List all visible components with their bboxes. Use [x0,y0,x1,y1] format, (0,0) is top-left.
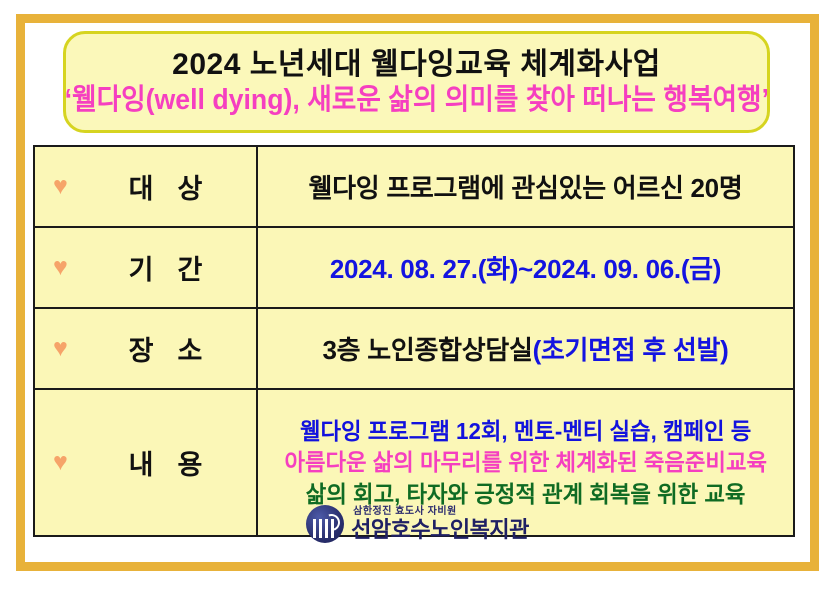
content-line-stack: 웰다잉 프로그램 12회, 멘토-멘티 실습, 캠페인 등 아름다운 삶의 마무… [274,413,777,511]
logo-text-block: 삼한정진 효도사 자비원 선암호수노인복지관 [351,507,529,541]
poster-content: 2024 노년세대 웰다잉교육 체계화사업 ‘웰다잉(well dying), … [25,23,810,562]
footer: 삼한정진 효도사 자비원 선암호수노인복지관 [25,505,810,543]
row-label-cell-target: ♥ 대상 [34,146,257,227]
heart-icon: ♥ [49,450,93,475]
row-value-cell-period: 2024. 08. 27.(화)~2024. 09. 06.(금) [257,227,794,308]
header-banner: 2024 노년세대 웰다잉교육 체계화사업 ‘웰다잉(well dying), … [63,31,770,133]
content-line-3: 삶의 회고, 타자와 긍정적 관계 회복을 위한 교육 [306,480,746,508]
row-label-cell-place: ♥ 장소 [34,308,257,389]
row-label-target: 대상 [93,167,242,206]
institution-logo-icon [306,505,344,543]
heart-icon: ♥ [49,174,93,199]
row-value-place-note: (초기면접 후 선발) [533,335,729,365]
row-label-content: 내용 [93,443,242,482]
organization-logo: 삼한정진 효도사 자비원 선암호수노인복지관 [306,505,529,543]
row-label-period: 기간 [93,248,242,287]
heart-icon: ♥ [49,255,93,280]
content-line-2: 아름다운 삶의 마무리를 위한 체계화된 죽음준비교육 [284,448,767,476]
row-value-cell-place: 3층 노인종합상담실(초기면접 후 선발) [257,308,794,389]
row-value-period: 2024. 08. 27.(화)~2024. 09. 06.(금) [330,254,721,284]
table-row-place: ♥ 장소 3층 노인종합상담실(초기면접 후 선발) [34,308,794,389]
info-table: ♥ 대상 웰다잉 프로그램에 관심있는 어르신 20명 ♥ 기간 [33,145,795,537]
row-value-cell-target: 웰다잉 프로그램에 관심있는 어르신 20명 [257,146,794,227]
row-value-place-main: 3층 노인종합상담실 [323,335,533,365]
logo-subtitle: 삼한정진 효도사 자비원 [353,507,457,517]
page-subtitle: ‘웰다잉(well dying), 새로운 삶의 의미를 찾아 떠나는 행복여행… [64,84,768,116]
table-row-target: ♥ 대상 웰다잉 프로그램에 관심있는 어르신 20명 [34,146,794,227]
row-label-place: 장소 [93,329,242,368]
heart-icon: ♥ [49,336,93,361]
row-label-cell-period: ♥ 기간 [34,227,257,308]
logo-organization-name: 선암호수노인복지관 [351,519,529,541]
content-line-1: 웰다잉 프로그램 12회, 멘토-멘티 실습, 캠페인 등 [300,417,751,445]
page-title: 2024 노년세대 웰다잉교육 체계화사업 [172,48,661,82]
poster-page: 2024 노년세대 웰다잉교육 체계화사업 ‘웰다잉(well dying), … [0,0,835,590]
table-row-period: ♥ 기간 2024. 08. 27.(화)~2024. 09. 06.(금) [34,227,794,308]
row-value-target: 웰다잉 프로그램에 관심있는 어르신 20명 [309,173,743,203]
